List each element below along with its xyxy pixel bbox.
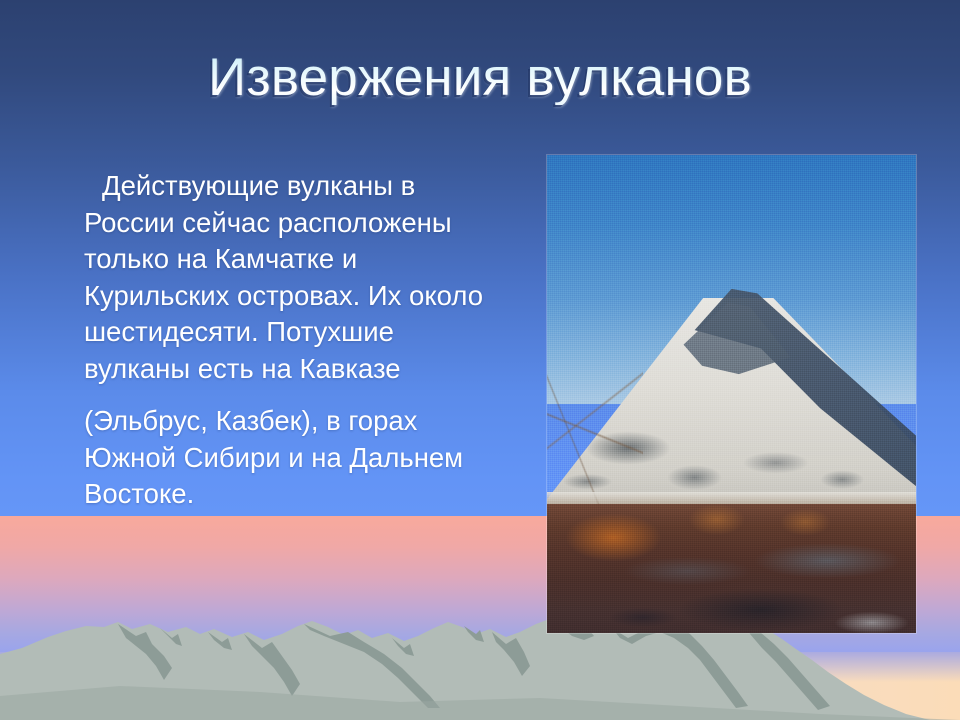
volcano-photo xyxy=(547,155,916,633)
presentation-slide: Извержения вулканов Действующие вулканы … xyxy=(0,0,960,720)
volcano-photo-canvas xyxy=(547,155,916,633)
body-paragraph-2: (Эльбрус, Казбек), в горах Южной Сибири … xyxy=(84,403,504,513)
slide-body-text: Действующие вулканы в России сейчас расп… xyxy=(84,168,504,513)
slide-title: Извержения вулканов xyxy=(0,50,960,105)
body-paragraph-1: Действующие вулканы в России сейчас расп… xyxy=(84,168,504,387)
photo-canvas-texture xyxy=(547,155,916,633)
